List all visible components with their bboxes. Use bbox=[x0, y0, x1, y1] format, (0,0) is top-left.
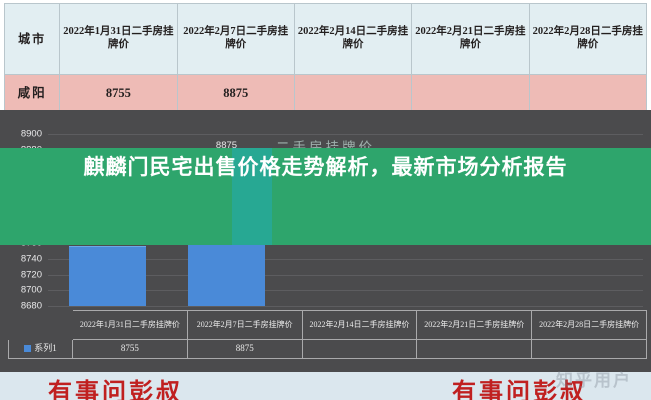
screenshot-root: 城市 2022年1月31日二手房挂牌价 2022年2月7日二手房挂牌价 2022… bbox=[0, 0, 651, 400]
chart-cat-3: 2022年2月14日二手房挂牌价 bbox=[302, 311, 417, 340]
table-header-row: 城市 2022年1月31日二手房挂牌价 2022年2月7日二手房挂牌价 2022… bbox=[5, 4, 647, 75]
chart-cat-1: 2022年1月31日二手房挂牌价 bbox=[73, 311, 188, 340]
price-table: 城市 2022年1月31日二手房挂牌价 2022年2月7日二手房挂牌价 2022… bbox=[4, 3, 647, 114]
chart-legend-series1: 系列1 bbox=[9, 340, 73, 359]
cell-price-1: 8755 bbox=[60, 75, 177, 114]
chart-val-1: 8755 bbox=[73, 340, 188, 359]
price-table-container: 城市 2022年1月31日二手房挂牌价 2022年2月7日二手房挂牌价 2022… bbox=[0, 0, 651, 110]
chart-y-tick-label: 8740 bbox=[21, 254, 42, 265]
cell-price-2: 8875 bbox=[177, 75, 294, 114]
chart-val-4 bbox=[417, 340, 532, 359]
chart-y-tick-label: 8900 bbox=[21, 129, 42, 140]
chart-table: 2022年1月31日二手房挂牌价 2022年2月7日二手房挂牌价 2022年2月… bbox=[8, 310, 647, 359]
header-date-4: 2022年2月21日二手房挂牌价 bbox=[412, 4, 529, 75]
chart-cat-4: 2022年2月21日二手房挂牌价 bbox=[417, 311, 532, 340]
chart-gridline: 8680 bbox=[48, 306, 643, 307]
chart-data-table: 2022年1月31日二手房挂牌价 2022年2月7日二手房挂牌价 2022年2月… bbox=[8, 310, 647, 364]
chart-bar bbox=[69, 246, 145, 306]
chart-table-value-row: 系列1 8755 8875 bbox=[9, 340, 647, 359]
chart-val-2: 8875 bbox=[187, 340, 302, 359]
chart-cat-5: 2022年2月28日二手房挂牌价 bbox=[532, 311, 647, 340]
cell-price-4 bbox=[412, 75, 529, 114]
chart-cat-2: 2022年2月7日二手房挂牌价 bbox=[187, 311, 302, 340]
legend-swatch-icon bbox=[24, 345, 31, 352]
chart-y-tick-label: 8720 bbox=[21, 269, 42, 280]
page-title: 麒麟门民宅出售价格走势解析，最新市场分析报告 bbox=[0, 152, 651, 184]
table-row: 咸阳 8755 8875 bbox=[5, 75, 647, 114]
header-date-3: 2022年2月14日二手房挂牌价 bbox=[294, 4, 411, 75]
header-date-1: 2022年1月31日二手房挂牌价 bbox=[60, 4, 177, 75]
chart-legend-label: 系列1 bbox=[34, 343, 57, 353]
chart-val-3 bbox=[302, 340, 417, 359]
chart-table-category-row: 2022年1月31日二手房挂牌价 2022年2月7日二手房挂牌价 2022年2月… bbox=[9, 311, 647, 340]
cell-city: 咸阳 bbox=[5, 75, 60, 114]
chart-table-corner bbox=[9, 311, 73, 340]
chart-val-5 bbox=[532, 340, 647, 359]
bottom-strip bbox=[0, 372, 651, 400]
header-date-2: 2022年2月7日二手房挂牌价 bbox=[177, 4, 294, 75]
cell-price-5 bbox=[529, 75, 646, 114]
header-date-5: 2022年2月28日二手房挂牌价 bbox=[529, 4, 646, 75]
header-city: 城市 bbox=[5, 4, 60, 75]
price-table-head: 城市 2022年1月31日二手房挂牌价 2022年2月7日二手房挂牌价 2022… bbox=[5, 4, 647, 75]
price-table-body: 咸阳 8755 8875 bbox=[5, 75, 647, 114]
chart-y-tick-label: 8700 bbox=[21, 285, 42, 296]
cell-price-3 bbox=[294, 75, 411, 114]
